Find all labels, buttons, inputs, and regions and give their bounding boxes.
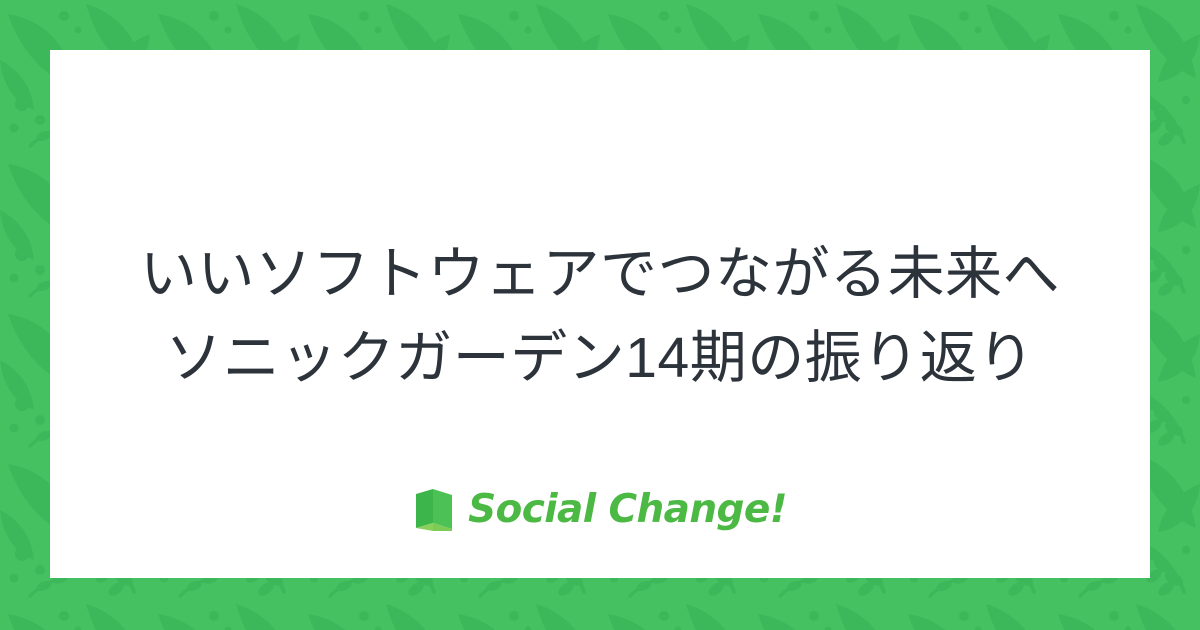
- social-change-logo: Social Change!: [50, 487, 1150, 531]
- page-title: いいソフトウェアでつながる未来へ ソニックガーデン14期の振り返り: [50, 232, 1150, 400]
- content-card: いいソフトウェアでつながる未来へ ソニックガーデン14期の振り返り Social…: [50, 50, 1150, 578]
- og-image-canvas: いいソフトウェアでつながる未来へ ソニックガーデン14期の振り返り Social…: [0, 0, 1200, 630]
- open-book-bookmark-icon: [413, 487, 455, 531]
- title-line-2: ソニックガーデン14期の振り返り: [80, 316, 1120, 400]
- logo-wordmark: Social Change!: [468, 490, 787, 529]
- title-line-1: いいソフトウェアでつながる未来へ: [80, 232, 1120, 316]
